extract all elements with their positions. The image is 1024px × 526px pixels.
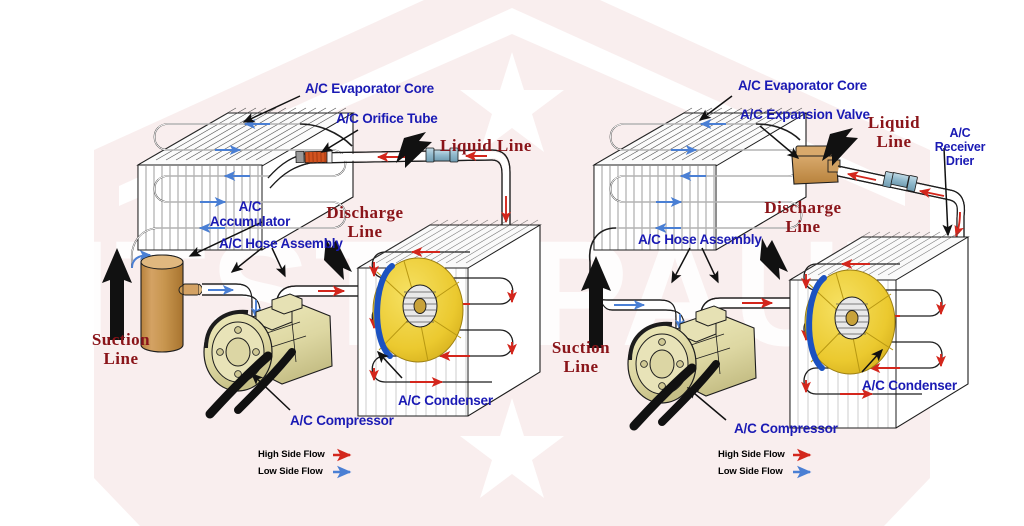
right-liquid-line-coupling [883, 171, 918, 191]
right-legend-low-side-flow: Low Side Flow [718, 467, 783, 478]
right-label-evaporator-core: A/C Evaporator Core [738, 78, 867, 93]
left-condenser [358, 220, 540, 416]
left-label-liquid-line: Liquid Line [440, 136, 532, 155]
right-label-receiver-drier-line2: Receiver [935, 140, 986, 154]
right-label-receiver-drier-line3: Drier [946, 154, 974, 168]
left-label-discharge-line1: Discharge [326, 203, 403, 222]
right-label-suction-line1: Suction [552, 338, 610, 357]
right-compressor [628, 306, 756, 426]
right-label-compressor: A/C Compressor [734, 421, 838, 436]
right-label-suction-line2: Line [563, 357, 598, 376]
left-label-compressor: A/C Compressor [290, 413, 394, 428]
left-suction-line-arrow [102, 248, 132, 340]
left-accumulator-outlet [183, 284, 203, 295]
left-label-suction-line2: Line [103, 349, 138, 368]
left-label-accumulator-line1: A/C [239, 199, 262, 214]
left-orifice-tube-part [296, 151, 332, 163]
left-label-accumulator-line2: Accumulator [210, 214, 290, 229]
right-label-receiver-drier: A/C Receiver Drier [922, 126, 998, 168]
left-label-discharge-line: Discharge Line [310, 203, 420, 241]
left-label-evaporator-core: A/C Evaporator Core [305, 81, 434, 96]
left-legend-low-side-flow: Low Side Flow [258, 467, 323, 478]
diagram-canvas: PITSTOPAUTO [0, 0, 1024, 526]
left-label-discharge-line2: Line [347, 222, 382, 241]
left-label-condenser: A/C Condenser [398, 393, 493, 408]
right-legend-arrows [793, 455, 810, 472]
right-label-receiver-drier-line1: A/C [950, 126, 971, 140]
right-label-liquid-line: Liquid Line [860, 113, 928, 151]
left-compressor [204, 294, 332, 414]
left-legend-high-side-flow: High Side Flow [258, 450, 325, 461]
right-label-discharge-line1: Discharge [764, 198, 841, 217]
left-condenser-fan [373, 258, 463, 362]
right-condenser [790, 232, 968, 428]
right-label-discharge-line2: Line [785, 217, 820, 236]
right-legend-high-side-flow: High Side Flow [718, 450, 785, 461]
left-label-suction-line: Suction Line [78, 330, 164, 368]
right-condenser-fan [805, 270, 895, 374]
right-label-liquid-line2: Line [876, 132, 911, 151]
right-label-expansion-valve: A/C Expansion Valve [740, 107, 870, 122]
left-label-accumulator: A/C Accumulator [202, 199, 298, 229]
right-label-suction-line: Suction Line [538, 338, 624, 376]
right-label-liquid-line1: Liquid [868, 113, 920, 132]
right-discharge-line-arrow [760, 238, 788, 280]
right-label-discharge-line: Discharge Line [748, 198, 858, 236]
left-legend-arrows [333, 455, 350, 472]
right-label-condenser: A/C Condenser [862, 378, 957, 393]
left-label-suction-line1: Suction [92, 330, 150, 349]
left-label-orifice-tube: A/C Orifice Tube [336, 111, 438, 126]
ac-system-artwork [0, 0, 1024, 526]
right-label-hose-assembly: A/C Hose Assembly [638, 232, 762, 247]
right-system-artwork [581, 96, 968, 472]
